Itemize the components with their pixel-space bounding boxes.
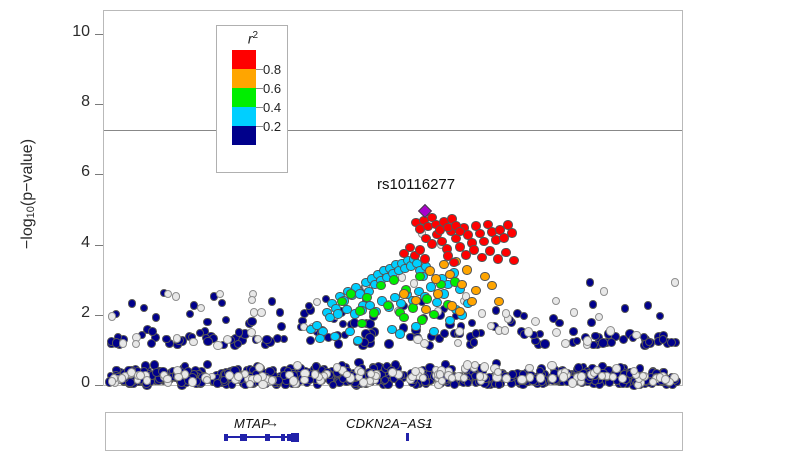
scatter-point[interactable] <box>547 361 556 370</box>
scatter-point[interactable] <box>462 265 471 274</box>
scatter-point[interactable] <box>471 361 479 369</box>
gene-strand-arrow-icon: → <box>266 415 279 430</box>
scatter-point[interactable] <box>577 372 586 381</box>
scatter-point[interactable] <box>455 327 464 336</box>
scatter-point[interactable] <box>568 378 577 387</box>
scatter-point[interactable] <box>300 376 308 384</box>
scatter-point[interactable] <box>345 327 354 336</box>
scatter-point[interactable] <box>353 336 362 345</box>
scatter-point[interactable] <box>479 237 489 247</box>
scatter-point[interactable] <box>136 371 145 380</box>
scatter-point[interactable] <box>222 316 230 324</box>
scatter-point[interactable] <box>420 339 429 348</box>
legend-swatch <box>232 107 256 126</box>
scatter-point[interactable] <box>621 304 630 313</box>
scatter-point[interactable] <box>559 372 568 381</box>
scatter-point[interactable] <box>429 327 438 336</box>
scatter-point[interactable] <box>315 334 324 343</box>
gene-exon <box>224 434 228 441</box>
legend-tick <box>256 69 263 70</box>
scatter-point[interactable] <box>411 296 420 305</box>
scatter-point[interactable] <box>306 336 315 345</box>
y-axis-tick-mark <box>95 174 103 175</box>
significance-threshold-line <box>104 130 682 131</box>
scatter-point[interactable] <box>376 281 385 290</box>
scatter-point[interactable] <box>247 317 257 327</box>
scatter-point[interactable] <box>417 315 426 324</box>
legend-title: r2 <box>217 30 289 47</box>
gene-exon <box>291 433 299 442</box>
y-axis-tick-label: 10 <box>56 23 90 41</box>
scatter-point[interactable] <box>586 278 595 287</box>
scatter-point[interactable] <box>609 373 617 381</box>
scatter-point[interactable] <box>471 286 480 295</box>
scatter-point[interactable] <box>337 297 346 306</box>
scatter-point[interactable] <box>234 340 242 348</box>
scatter-point[interactable] <box>468 319 476 327</box>
scatter-point[interactable] <box>501 326 509 334</box>
scatter-point[interactable] <box>248 296 256 304</box>
scatter-point[interactable] <box>362 293 371 302</box>
scatter-point[interactable] <box>333 309 342 318</box>
scatter-point[interactable] <box>472 329 480 337</box>
scatter-point[interactable] <box>619 335 628 344</box>
scatter-point[interactable] <box>644 301 653 310</box>
scatter-point[interactable] <box>427 239 437 249</box>
scatter-point[interactable] <box>399 313 408 322</box>
scatter-point[interactable] <box>525 364 533 372</box>
scatter-point[interactable] <box>330 332 339 341</box>
scatter-point[interactable] <box>569 327 578 336</box>
scatter-point[interactable] <box>433 289 442 298</box>
scatter-point[interactable] <box>119 339 128 348</box>
legend-title-superscript: 2 <box>253 30 259 41</box>
scatter-point[interactable] <box>108 312 116 320</box>
scatter-point[interactable] <box>502 374 511 383</box>
scatter-point[interactable] <box>431 274 440 283</box>
scatter-point[interactable] <box>389 275 398 284</box>
scatter-point[interactable] <box>268 376 277 385</box>
gene-exon <box>281 434 285 441</box>
scatter-point[interactable] <box>455 307 464 316</box>
y-axis-tick-mark <box>95 34 103 35</box>
y-axis-tick-mark <box>95 385 103 386</box>
scatter-point[interactable] <box>189 338 198 347</box>
scatter-point[interactable] <box>234 372 242 380</box>
scatter-point[interactable] <box>524 327 534 337</box>
scatter-point[interactable] <box>429 310 438 319</box>
scatter-point[interactable] <box>501 248 511 258</box>
scatter-point[interactable] <box>333 363 342 372</box>
scatter-point[interactable] <box>583 336 592 345</box>
scatter-point[interactable] <box>225 371 234 380</box>
gene-track-panel: MTAP→CDKN2A−AS1→ <box>105 412 683 451</box>
scatter-point[interactable] <box>469 245 479 255</box>
scatter-point[interactable] <box>174 373 183 382</box>
scatter-point[interactable] <box>128 299 137 308</box>
scatter-point[interactable] <box>520 312 529 321</box>
scatter-point[interactable] <box>108 377 117 386</box>
scatter-point[interactable] <box>574 363 583 372</box>
scatter-point[interactable] <box>457 280 466 289</box>
scatter-point[interactable] <box>667 338 676 347</box>
scatter-point[interactable] <box>311 370 319 378</box>
scatter-point[interactable] <box>612 364 621 373</box>
gene-exon <box>265 434 270 441</box>
scatter-point[interactable] <box>218 299 227 308</box>
gene-exon <box>406 433 409 441</box>
gene-intron-line <box>224 436 296 438</box>
scatter-point[interactable] <box>607 338 616 347</box>
scatter-point[interactable] <box>388 368 397 377</box>
scatter-point[interactable] <box>450 380 459 389</box>
scatter-point[interactable] <box>600 287 609 296</box>
scatter-point[interactable] <box>455 227 465 237</box>
scatter-point[interactable] <box>346 289 355 298</box>
scatter-point[interactable] <box>329 381 338 390</box>
scatter-point[interactable] <box>422 294 431 303</box>
scatter-point[interactable] <box>463 360 472 369</box>
scatter-point[interactable] <box>570 308 579 317</box>
y-axis-label-prefix: −log <box>19 218 36 249</box>
scatter-point[interactable] <box>203 360 212 369</box>
scatter-point[interactable] <box>432 298 441 307</box>
scatter-point[interactable] <box>355 306 364 315</box>
scatter-point[interactable] <box>147 339 156 348</box>
scatter-point[interactable] <box>367 370 375 378</box>
scatter-point[interactable] <box>203 318 212 327</box>
scatter-point[interactable] <box>250 308 259 317</box>
legend-tick-label: 0.6 <box>263 81 281 96</box>
scatter-point[interactable] <box>383 301 392 310</box>
legend-swatch <box>232 50 256 69</box>
scatter-point[interactable] <box>164 290 172 298</box>
legend-tick-label: 0.2 <box>263 119 281 134</box>
scatter-point[interactable] <box>509 256 519 266</box>
scatter-point[interactable] <box>396 299 405 308</box>
legend-swatch <box>232 88 256 107</box>
gene-name-label[interactable]: MTAP <box>234 416 270 431</box>
scatter-point[interactable] <box>454 339 462 347</box>
scatter-point[interactable] <box>492 306 501 315</box>
scatter-point[interactable] <box>552 297 561 306</box>
scatter-point[interactable] <box>172 292 180 300</box>
scatter-point[interactable] <box>448 374 456 382</box>
scatter-point[interactable] <box>132 340 140 348</box>
scatter-point[interactable] <box>253 374 262 383</box>
scatter-point[interactable] <box>420 254 430 264</box>
scatter-point[interactable] <box>399 289 408 298</box>
y-axis-tick-label: 4 <box>56 234 90 252</box>
scatter-point[interactable] <box>467 297 476 306</box>
scatter-point[interactable] <box>480 362 489 371</box>
scatter-point[interactable] <box>630 367 638 375</box>
scatter-point[interactable] <box>357 319 366 328</box>
scatter-point[interactable] <box>439 260 448 269</box>
scatter-point[interactable] <box>257 308 266 317</box>
scatter-point[interactable] <box>421 305 430 314</box>
scatter-point[interactable] <box>445 270 454 279</box>
scatter-point[interactable] <box>494 297 503 306</box>
scatter-point[interactable] <box>197 304 206 313</box>
y-axis-label-suffix: (p−value) <box>19 139 36 206</box>
scatter-point[interactable] <box>659 335 667 343</box>
legend-swatch <box>232 126 256 145</box>
scatter-point[interactable] <box>445 316 454 325</box>
legend-tick <box>256 126 263 127</box>
scatter-point[interactable] <box>573 337 581 345</box>
scatter-point[interactable] <box>216 290 224 298</box>
scatter-point[interactable] <box>561 339 570 348</box>
scatter-point[interactable] <box>517 375 526 384</box>
scatter-point[interactable] <box>268 297 277 306</box>
scatter-point[interactable] <box>507 228 517 238</box>
scatter-point[interactable] <box>470 338 478 346</box>
gene-strand-arrow-icon: → <box>420 415 433 430</box>
scatter-point[interactable] <box>671 278 679 286</box>
y-axis-tick-label: 2 <box>56 304 90 322</box>
scatter-point[interactable] <box>478 309 486 317</box>
scatter-point[interactable] <box>494 368 502 376</box>
ld-legend: r2 0.80.60.40.2 <box>216 25 288 173</box>
scatter-point[interactable] <box>598 338 607 347</box>
locuszoom-figure: −log10(p−value) 0246810 rs10116277 r2 0.… <box>0 0 800 451</box>
y-axis-tick-label: 6 <box>56 163 90 181</box>
scatter-point[interactable] <box>606 326 616 336</box>
scatter-point[interactable] <box>419 374 427 382</box>
scatter-point[interactable] <box>595 313 603 321</box>
scatter-point[interactable] <box>587 318 596 327</box>
y-axis-tick-mark <box>95 315 103 316</box>
scatter-point[interactable] <box>223 335 232 344</box>
scatter-point[interactable] <box>152 313 161 322</box>
legend-swatch <box>232 69 256 88</box>
scatter-point[interactable] <box>476 372 484 380</box>
scatter-point[interactable] <box>632 331 640 339</box>
scatter-point[interactable] <box>526 373 534 381</box>
scatter-point[interactable] <box>639 372 647 380</box>
scatter-point[interactable] <box>656 312 665 321</box>
association-plot-panel: rs10116277 r2 0.80.60.40.2 <box>103 10 683 386</box>
scatter-point[interactable] <box>487 281 496 290</box>
scatter-point[interactable] <box>589 300 598 309</box>
y-axis-tick-label: 8 <box>56 93 90 111</box>
legend-tick <box>256 107 263 108</box>
scatter-point[interactable] <box>449 258 459 268</box>
scatter-point[interactable] <box>395 329 404 338</box>
scatter-point[interactable] <box>552 328 561 337</box>
y-axis-tick-mark <box>95 104 103 105</box>
scatter-point[interactable] <box>480 272 489 281</box>
scatter-point[interactable] <box>118 374 127 383</box>
scatter-point[interactable] <box>277 322 286 331</box>
y-axis-tick-label: 0 <box>56 374 90 392</box>
y-axis-label: −log10(p−value) <box>19 54 37 334</box>
gene-exon <box>240 434 247 441</box>
scatter-point[interactable] <box>531 317 540 326</box>
scatter-point[interactable] <box>289 376 298 385</box>
scatter-point[interactable] <box>440 329 449 338</box>
scatter-point[interactable] <box>313 298 321 306</box>
scatter-point[interactable] <box>148 327 157 336</box>
scatter-point[interactable] <box>415 272 424 281</box>
scatter-point[interactable] <box>369 308 378 317</box>
y-axis-label-subscript: 10 <box>25 206 37 218</box>
scatter-point[interactable] <box>213 341 222 350</box>
scatter-point[interactable] <box>384 339 394 349</box>
scatter-point[interactable] <box>540 339 549 348</box>
scatter-point[interactable] <box>162 335 170 343</box>
legend-tick-label: 0.4 <box>263 100 281 115</box>
scatter-point[interactable] <box>203 337 213 347</box>
scatter-point[interactable] <box>357 368 365 376</box>
y-axis-tick-mark <box>95 245 103 246</box>
scatter-point[interactable] <box>246 380 254 388</box>
scatter-point[interactable] <box>140 304 149 313</box>
legend-tick-label: 0.8 <box>263 62 281 77</box>
scatter-point[interactable] <box>536 373 545 382</box>
scatter-point[interactable] <box>359 378 368 387</box>
scatter-point[interactable] <box>186 310 195 319</box>
lead-snp-label: rs10116277 <box>377 176 455 193</box>
scatter-point[interactable] <box>276 308 285 317</box>
legend-tick <box>256 88 263 89</box>
scatter-point[interactable] <box>555 319 564 328</box>
